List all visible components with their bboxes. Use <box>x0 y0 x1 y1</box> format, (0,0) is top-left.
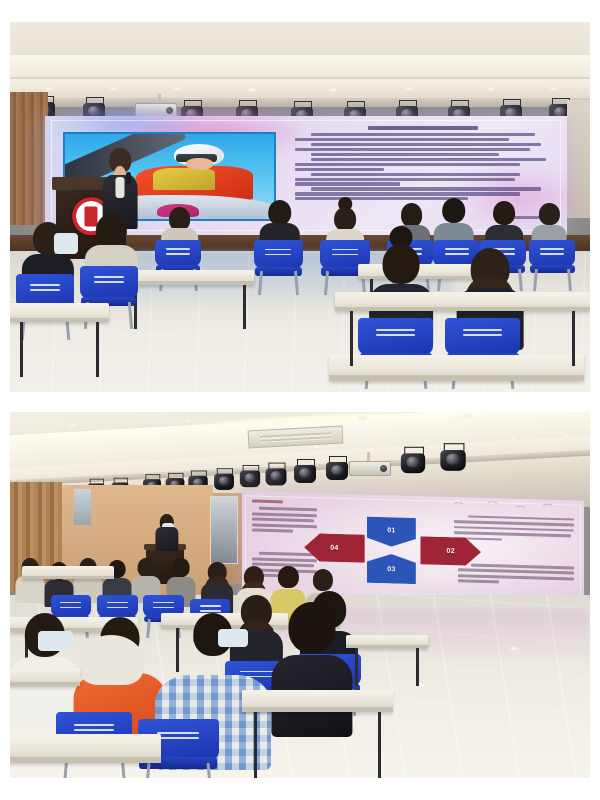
arrow-segment-03: 03 <box>367 553 416 584</box>
four-arrow-diagram: 04 02 01 03 <box>334 518 450 583</box>
crane-bird-icon <box>454 503 463 507</box>
slide-text-line <box>295 182 399 185</box>
downlight <box>33 458 42 462</box>
face-mask <box>218 629 248 647</box>
desk <box>335 292 590 311</box>
crane-bird-icon <box>543 504 552 508</box>
chair[interactable] <box>254 240 303 292</box>
projector-mount <box>367 452 370 461</box>
head <box>494 201 516 225</box>
pilot-face <box>186 158 213 170</box>
downlight <box>561 434 570 438</box>
arrow-label-02: 02 <box>447 548 455 555</box>
photo-gap <box>0 392 600 412</box>
speaker <box>155 514 178 551</box>
desk <box>10 303 109 322</box>
face-mask <box>38 631 73 651</box>
face-mask <box>54 233 78 254</box>
stage-light-icon <box>214 468 234 491</box>
person-hoodie <box>80 621 144 702</box>
stage-light-icon <box>294 459 316 484</box>
desk <box>126 270 254 285</box>
downlight <box>312 445 321 449</box>
slide-text-line <box>311 153 499 156</box>
downlight <box>358 416 367 420</box>
downlight <box>509 436 518 440</box>
desk <box>10 668 80 686</box>
slide-text-line <box>295 192 519 195</box>
bottom-photo: 04 02 01 03 <box>10 412 590 778</box>
arrow-label-03: 03 <box>387 566 395 573</box>
slide-text-line <box>295 163 519 166</box>
downlight <box>486 87 495 91</box>
downlight <box>329 88 338 92</box>
head <box>401 203 423 227</box>
stage-light-icon <box>326 456 348 481</box>
head <box>334 207 356 231</box>
speaker-torso <box>155 527 178 551</box>
head <box>383 244 420 284</box>
downlight <box>248 88 257 92</box>
stage-light-icon <box>240 465 260 488</box>
pilot-vest <box>153 168 216 190</box>
head <box>539 203 559 225</box>
crane-bird-icon <box>488 501 497 505</box>
desk <box>329 355 584 381</box>
torso <box>16 576 45 603</box>
slide-text-line <box>295 148 530 151</box>
slide-text-line <box>311 158 546 161</box>
slide-text-line <box>311 173 520 176</box>
downlight <box>549 87 558 91</box>
hood <box>80 635 144 685</box>
arrow-label-04: 04 <box>330 545 338 552</box>
slide-text-line <box>295 168 384 171</box>
head <box>278 566 298 588</box>
person-black-suit <box>271 602 352 734</box>
crane-bird-icon <box>516 506 525 510</box>
top-photo <box>10 22 590 392</box>
projector <box>349 461 391 476</box>
arrow-segment-01: 01 <box>367 517 416 548</box>
head <box>96 214 126 247</box>
stage-light-icon <box>400 447 424 475</box>
audience-person <box>16 558 45 602</box>
microphone <box>126 172 131 185</box>
ceiling-band <box>10 55 590 77</box>
desk <box>242 690 393 712</box>
head <box>442 198 466 224</box>
wood-wall-left <box>10 92 48 225</box>
head <box>313 569 333 591</box>
presenter-shirt <box>116 177 125 198</box>
slide-heading <box>368 126 478 130</box>
slide-text-line <box>311 133 535 136</box>
slide-text-line <box>295 138 509 141</box>
window <box>74 489 91 526</box>
head <box>173 558 190 576</box>
downlight <box>109 87 118 91</box>
photo-sheet: 04 02 01 03 <box>0 0 600 800</box>
stage-light-icon <box>440 443 465 472</box>
chair[interactable] <box>529 240 575 288</box>
arrow-label-01: 01 <box>387 527 395 534</box>
head <box>288 602 335 653</box>
head <box>138 558 155 576</box>
slide-text-line <box>311 187 541 190</box>
desk <box>22 566 115 579</box>
downlight <box>68 423 77 427</box>
desk <box>10 734 161 763</box>
head <box>268 200 292 226</box>
desk <box>346 635 427 648</box>
doorway <box>210 496 238 564</box>
slide-text-line <box>295 178 514 181</box>
stage-light-icon <box>266 462 287 486</box>
slide-text-line <box>311 143 541 146</box>
downlight <box>45 87 54 91</box>
